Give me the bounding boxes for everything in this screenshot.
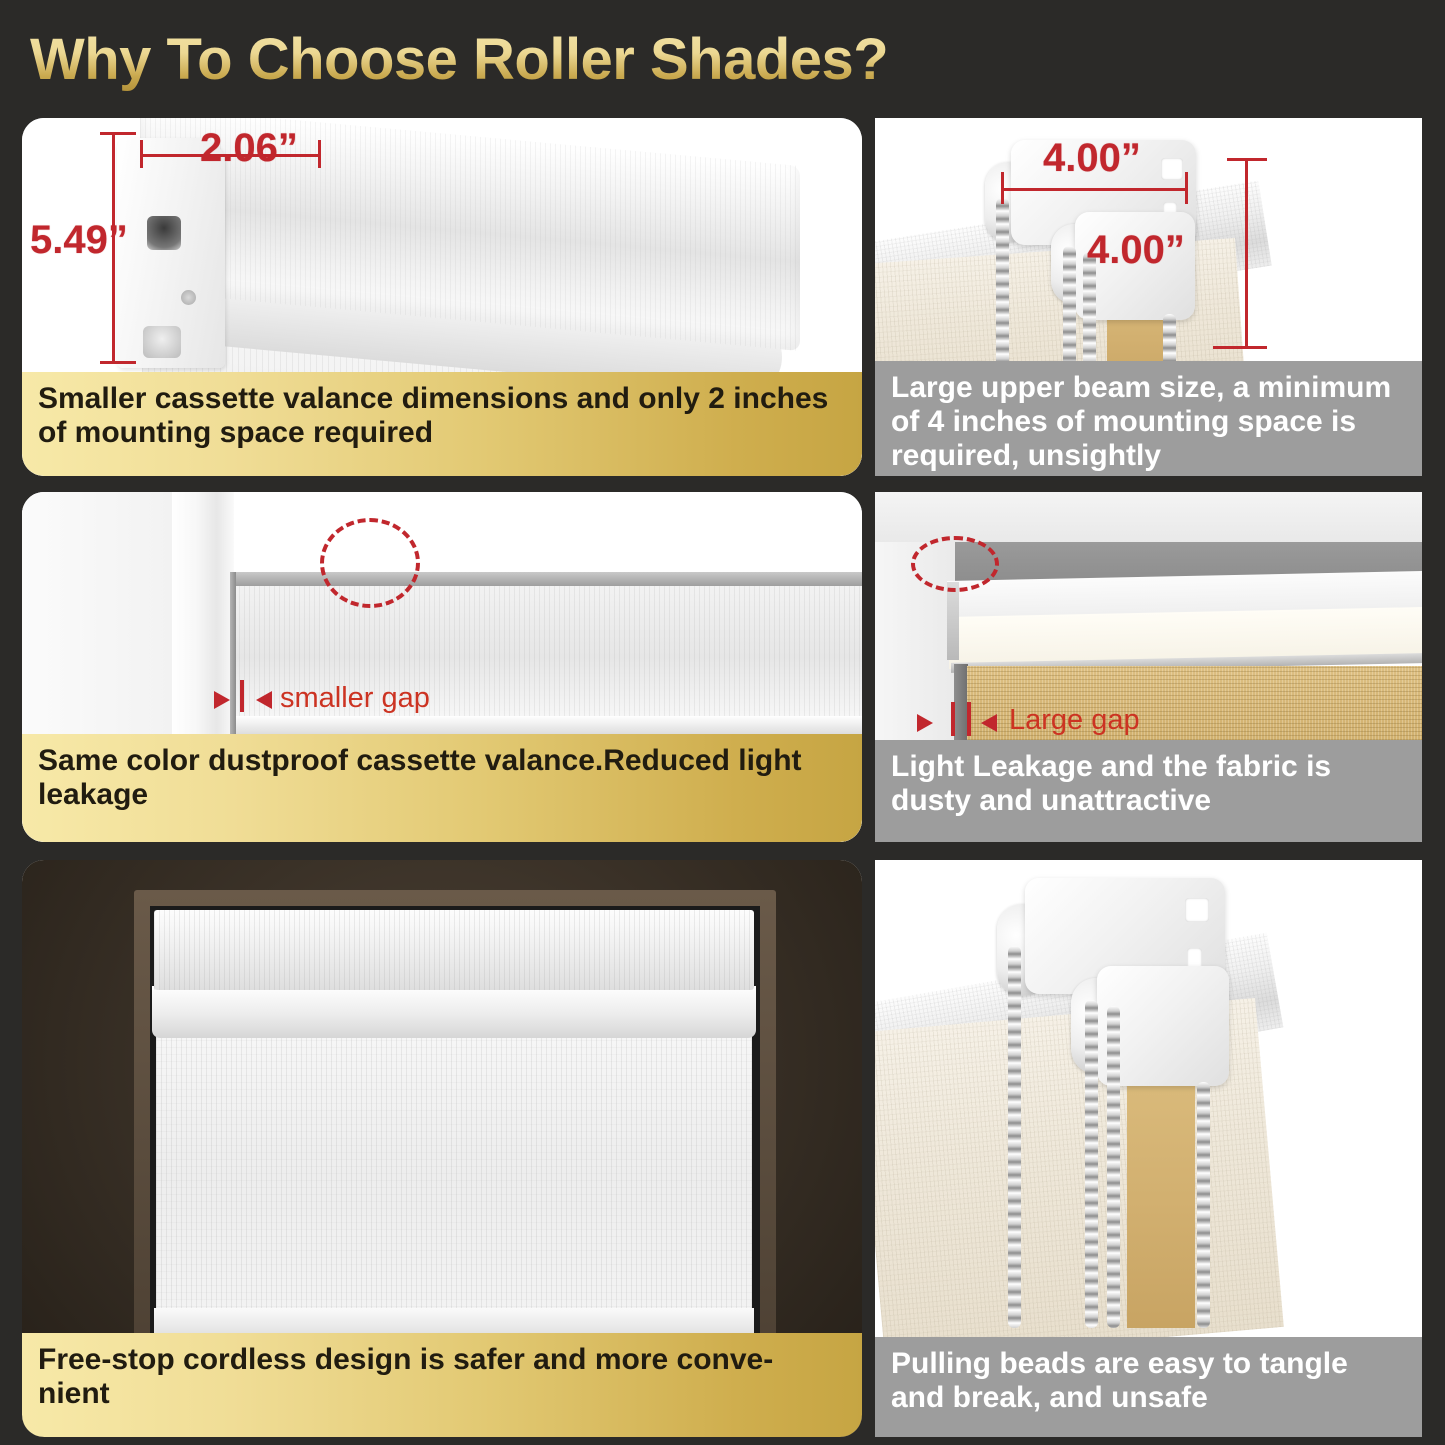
- panel-middle-right: Large gap Light Leakage and the fabric i…: [875, 492, 1422, 842]
- shade-bracket-clip: [947, 582, 959, 660]
- endcap-slot-icon: [147, 216, 181, 250]
- bracket-slot-icon: [1185, 898, 1209, 922]
- caption-line-1: Free-stop cordless design is safer and m…: [38, 1343, 773, 1376]
- caption-line-2: nient: [38, 1377, 110, 1410]
- caption-middle-right: Light Leakage and the fabric is dusty an…: [875, 740, 1422, 842]
- shade-bottom-rail: [154, 1308, 754, 1334]
- panel-top-left: 2.06” 5.49” Smaller cassette valance dim…: [22, 118, 862, 476]
- width-dimension-tick-left: [1001, 172, 1004, 204]
- gap-label: smaller gap: [280, 682, 430, 715]
- valance-endcap: [117, 138, 225, 368]
- caption-bottom-left: Free-stop cordless design is safer and m…: [22, 1333, 862, 1437]
- bead-chain-4[interactable]: [1197, 1082, 1210, 1328]
- width-dimension-tick-left: [140, 140, 143, 168]
- gap-marker-bar-1: [951, 702, 955, 736]
- endcap-screw-icon: [181, 290, 196, 305]
- height-dimension-label: 5.49”: [30, 218, 128, 263]
- panel-top-right: 4.00” 4.00” Large upper beam size, a min…: [875, 118, 1422, 476]
- caption-middle-left: Same color dustproof cassette valance.Re…: [22, 734, 862, 842]
- width-dimension-label: 2.06”: [200, 126, 298, 171]
- endcap-knob-icon: [143, 326, 181, 358]
- panel-bottom-right: Pulling beads are easy to tangle and bre…: [875, 860, 1422, 1437]
- panel-middle-left: smaller gap Same color dustproof cassett…: [22, 492, 862, 842]
- gap-arrow-right-icon: [256, 691, 272, 709]
- height-dimension-tick-bottom: [100, 361, 136, 364]
- bracket-slot-icon: [1161, 158, 1183, 180]
- cassette-valance: [154, 910, 754, 990]
- shade-mid-rail: [234, 716, 862, 734]
- highlight-circle-icon: [911, 536, 999, 592]
- panel-bottom-left: Free-stop cordless design is safer and m…: [22, 860, 862, 1437]
- page-title: Why To Choose Roller Shades?: [30, 26, 888, 93]
- caption-bottom-right: Pulling beads are easy to tangle and bre…: [875, 1337, 1422, 1437]
- height-dimension-line: [1245, 160, 1248, 348]
- height-dimension-tick-top: [100, 132, 136, 135]
- highlight-circle-icon: [320, 518, 420, 608]
- comparison-grid: 2.06” 5.49” Smaller cassette valance dim…: [0, 112, 1445, 1445]
- ceiling-surface: [875, 492, 1422, 542]
- width-dimension-line: [1003, 188, 1188, 191]
- gap-arrow-right-icon: [981, 714, 997, 732]
- bead-chain-1[interactable]: [1008, 946, 1021, 1328]
- header-bar: Why To Choose Roller Shades?: [0, 0, 1445, 112]
- bead-chain-3[interactable]: [1107, 1006, 1120, 1328]
- caption-top-left: Smaller cassette valance dimensions and …: [22, 372, 862, 476]
- width-dimension-tick-right: [318, 140, 321, 168]
- bead-chain-2: [1063, 246, 1076, 378]
- gap-label: Large gap: [1009, 704, 1140, 737]
- height-dimension-tick-bottom: [1213, 346, 1267, 349]
- gap-arrow-left-icon: [214, 691, 230, 709]
- bead-chain-1: [996, 198, 1009, 378]
- caption-top-right: Large upper beam size, a minimum of 4 in…: [875, 361, 1422, 476]
- gap-arrow-left-icon: [917, 714, 933, 732]
- shade-fabric: [156, 1036, 752, 1314]
- height-dimension-tick-top: [1227, 158, 1267, 161]
- gap-marker-bar-2: [967, 702, 971, 736]
- width-dimension-label: 4.00”: [1043, 136, 1141, 181]
- height-dimension-label: 4.00”: [1087, 228, 1185, 273]
- gap-marker-bar: [240, 680, 244, 712]
- cassette-lip: [152, 986, 756, 1038]
- width-dimension-tick-right: [1185, 172, 1188, 204]
- bead-chain-2[interactable]: [1085, 1000, 1098, 1328]
